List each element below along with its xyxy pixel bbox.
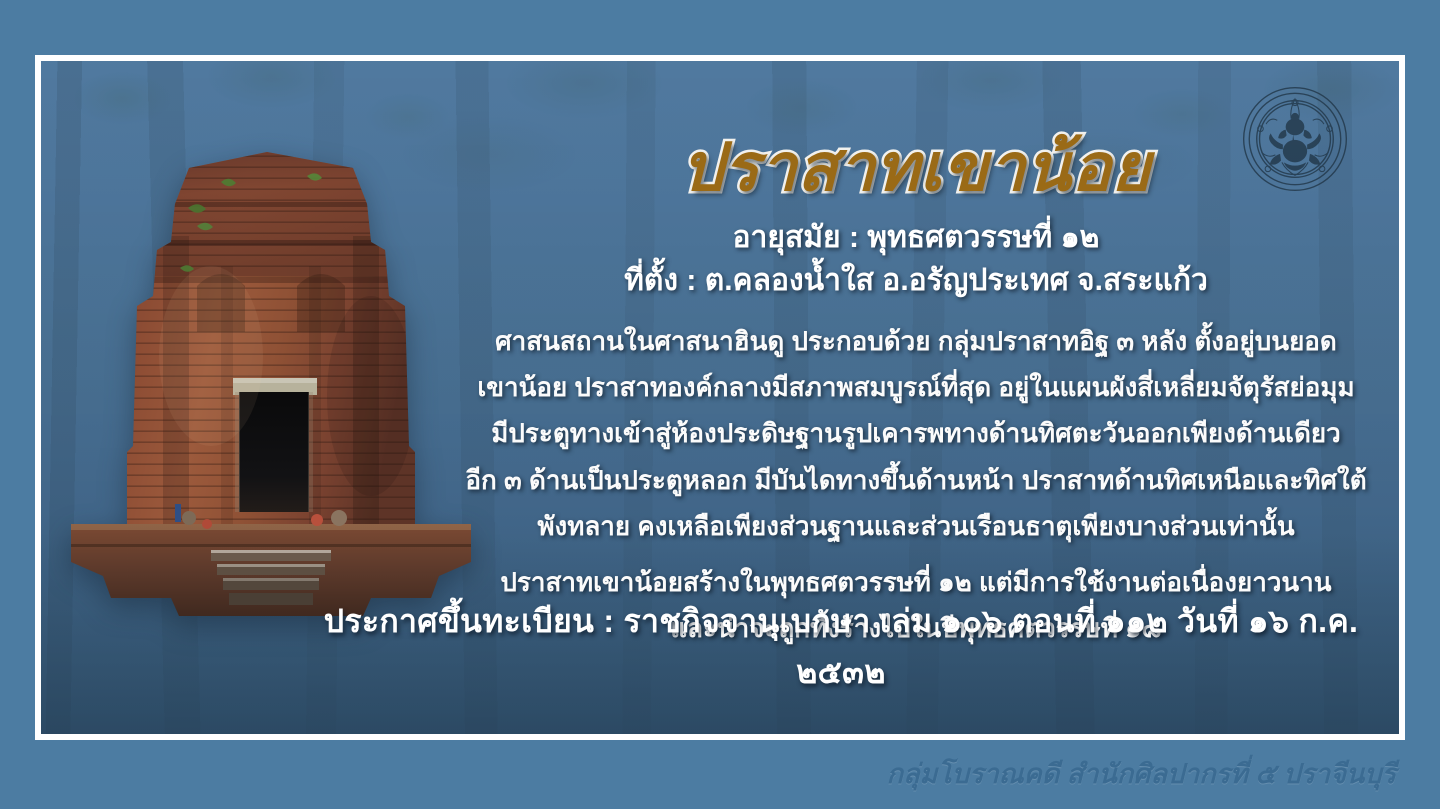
description-line: มีประตูทางเข้าสู่ห้องประดิษฐานรูปเคารพทา… (461, 410, 1371, 456)
metadata-block: อายุสมัย : พุทธศตวรรษที่ ๑๒ ที่ตั้ง : ต.… (461, 217, 1371, 302)
poster-text-content: ปราสาทเขาน้อย อายุสมัย : พุทธศตวรรษที่ ๑… (461, 75, 1371, 724)
prasat-tower-photo (71, 146, 471, 646)
registration-announcement: ประกาศขึ้นทะเบียน : ราชกิจจานุเบกษา เล่ม… (311, 596, 1371, 698)
description-line: ศาสนสถานในศาสนาฮินดู ประกอบด้วย กลุ่มปรา… (461, 318, 1371, 364)
description-line: เขาน้อย ปราสาทองค์กลางมีสภาพสมบูรณ์ที่สุ… (461, 364, 1371, 410)
description-paragraph-1: ศาสนสถานในศาสนาฮินดู ประกอบด้วย กลุ่มปรา… (461, 318, 1371, 549)
poster-root: ปราสาทเขาน้อย อายุสมัย : พุทธศตวรรษที่ ๑… (0, 0, 1440, 809)
location-line: ที่ตั้ง : ต.คลองน้ำใส อ.อรัญประเทศ จ.สระ… (461, 260, 1371, 301)
period-line: อายุสมัย : พุทธศตวรรษที่ ๑๒ (461, 217, 1371, 258)
description-line: พังทลาย คงเหลือเพียงส่วนฐานและส่วนเรือนธ… (461, 503, 1371, 549)
description-line: อีก ๓ ด้านเป็นประตูหลอก มีบันไดทางขึ้นด้… (461, 457, 1371, 503)
footer-credit: กลุ่มโบราณคดี สำนักศิลปากรที่ ๕ ปราจีนบุ… (887, 752, 1396, 795)
page-title: ปราสาทเขาน้อย (461, 133, 1371, 203)
photo-panel-frame: ปราสาทเขาน้อย อายุสมัย : พุทธศตวรรษที่ ๑… (35, 55, 1405, 740)
